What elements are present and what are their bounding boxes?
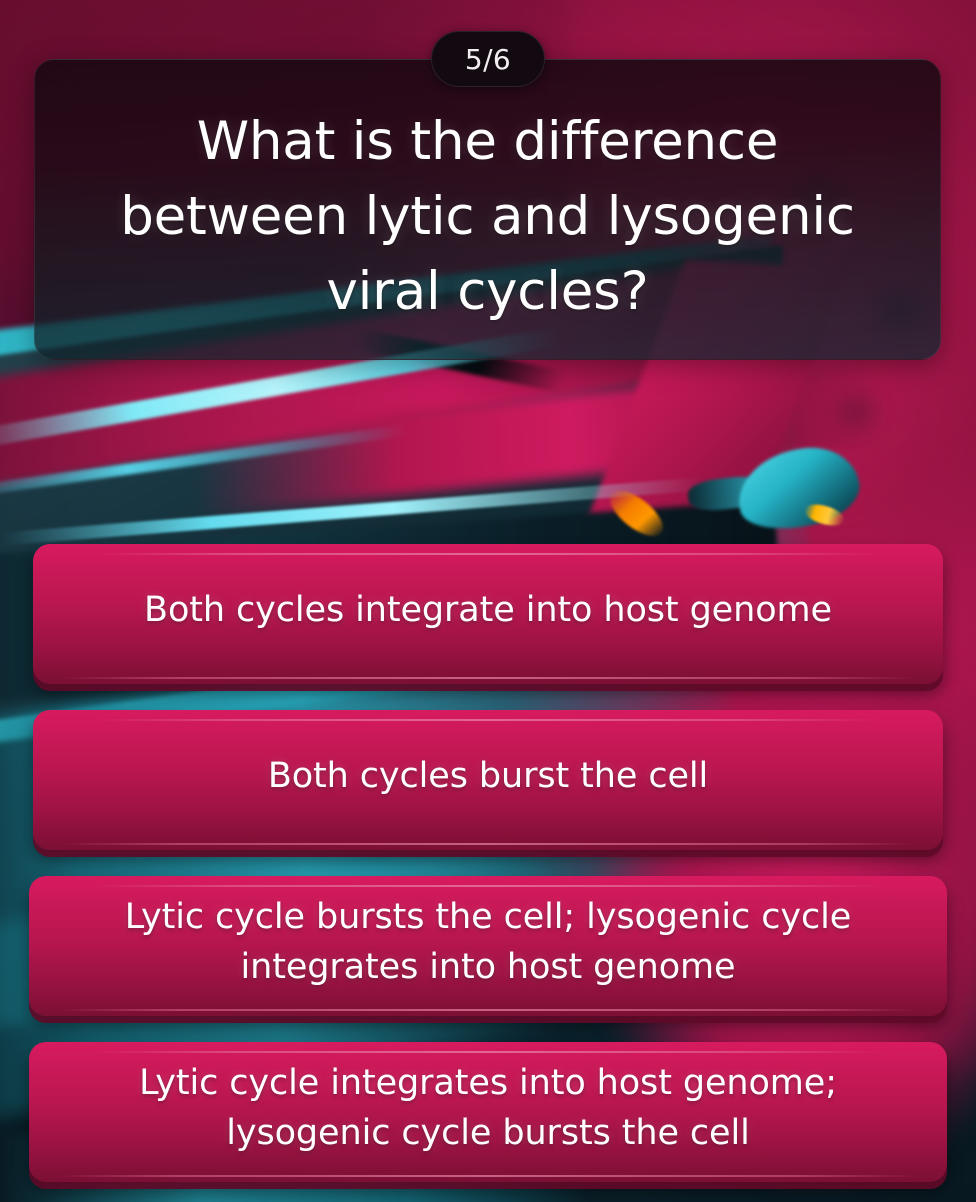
progress-badge: 5/6 (431, 31, 545, 87)
question-text: What is the difference between lytic and… (98, 104, 878, 330)
question-card: What is the difference between lytic and… (34, 59, 941, 360)
answer-option-4-label: Lytic cycle integrates into host genome;… (73, 1059, 903, 1158)
answer-option-3-label: Lytic cycle bursts the cell; lysogenic c… (73, 893, 903, 992)
answer-options-list: Both cycles integrate into host genome B… (0, 544, 976, 1202)
answer-option-2-label: Both cycles burst the cell (268, 752, 708, 802)
answer-option-4[interactable]: Lytic cycle integrates into host genome;… (29, 1042, 947, 1182)
answer-option-1-label: Both cycles integrate into host genome (144, 586, 832, 636)
answer-option-2[interactable]: Both cycles burst the cell (33, 710, 943, 850)
answer-option-1[interactable]: Both cycles integrate into host genome (33, 544, 943, 684)
progress-badge-label: 5/6 (465, 43, 511, 76)
answer-option-3[interactable]: Lytic cycle bursts the cell; lysogenic c… (29, 876, 947, 1016)
quiz-screen: What is the difference between lytic and… (0, 0, 976, 1202)
